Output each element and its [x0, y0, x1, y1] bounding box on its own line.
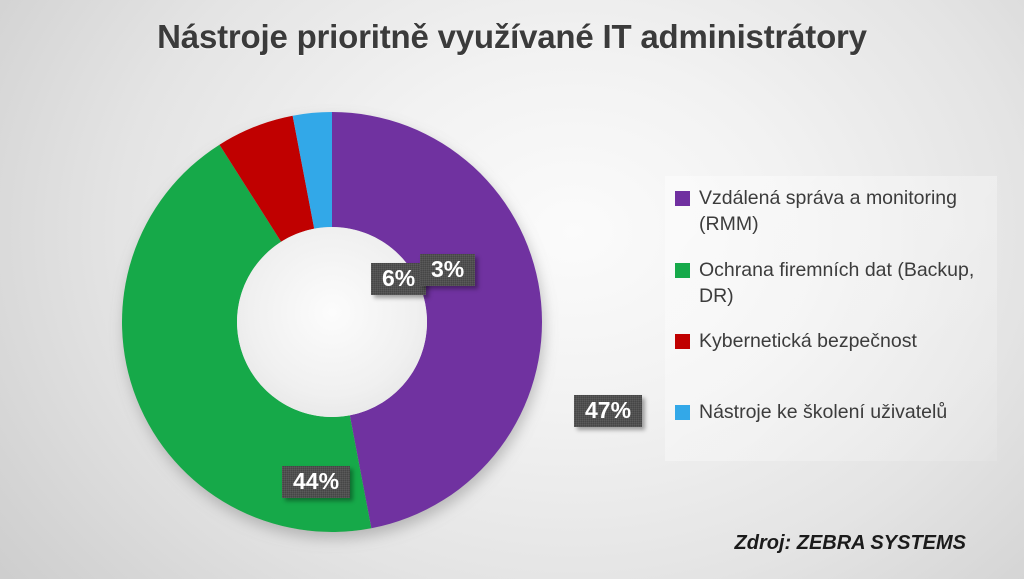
legend-swatch-icon: [675, 263, 690, 278]
legend-item[interactable]: Kybernetická bezpečnost: [675, 329, 917, 355]
legend-swatch-icon: [675, 405, 690, 420]
legend-item-label: Vzdálená správa a monitoring (RMM): [699, 186, 997, 238]
legend-item-label: Nástroje ke školení uživatelů: [699, 400, 947, 426]
donut-chart: 47% 44% 6% 3%: [118, 108, 546, 536]
legend-item-label: Ochrana firemních dat (Backup, DR): [699, 258, 997, 310]
donut-hole: [237, 227, 427, 417]
chart-legend: Vzdálená správa a monitoring (RMM)Ochran…: [665, 176, 997, 461]
data-label-slice-4: 3%: [420, 254, 475, 286]
legend-item[interactable]: Nástroje ke školení uživatelů: [675, 400, 947, 426]
data-label-slice-1: 47%: [574, 395, 642, 427]
legend-item[interactable]: Ochrana firemních dat (Backup, DR): [675, 258, 997, 310]
legend-item[interactable]: Vzdálená správa a monitoring (RMM): [675, 186, 997, 238]
legend-swatch-icon: [675, 334, 690, 349]
slide-canvas: Nástroje prioritně využívané IT administ…: [0, 0, 1024, 579]
data-label-slice-2: 44%: [282, 466, 350, 498]
legend-item-label: Kybernetická bezpečnost: [699, 329, 917, 355]
data-label-slice-3: 6%: [371, 263, 426, 295]
page-title: Nástroje prioritně využívané IT administ…: [0, 18, 1024, 56]
source-attribution: Zdroj: ZEBRA SYSTEMS: [735, 532, 966, 555]
legend-swatch-icon: [675, 191, 690, 206]
